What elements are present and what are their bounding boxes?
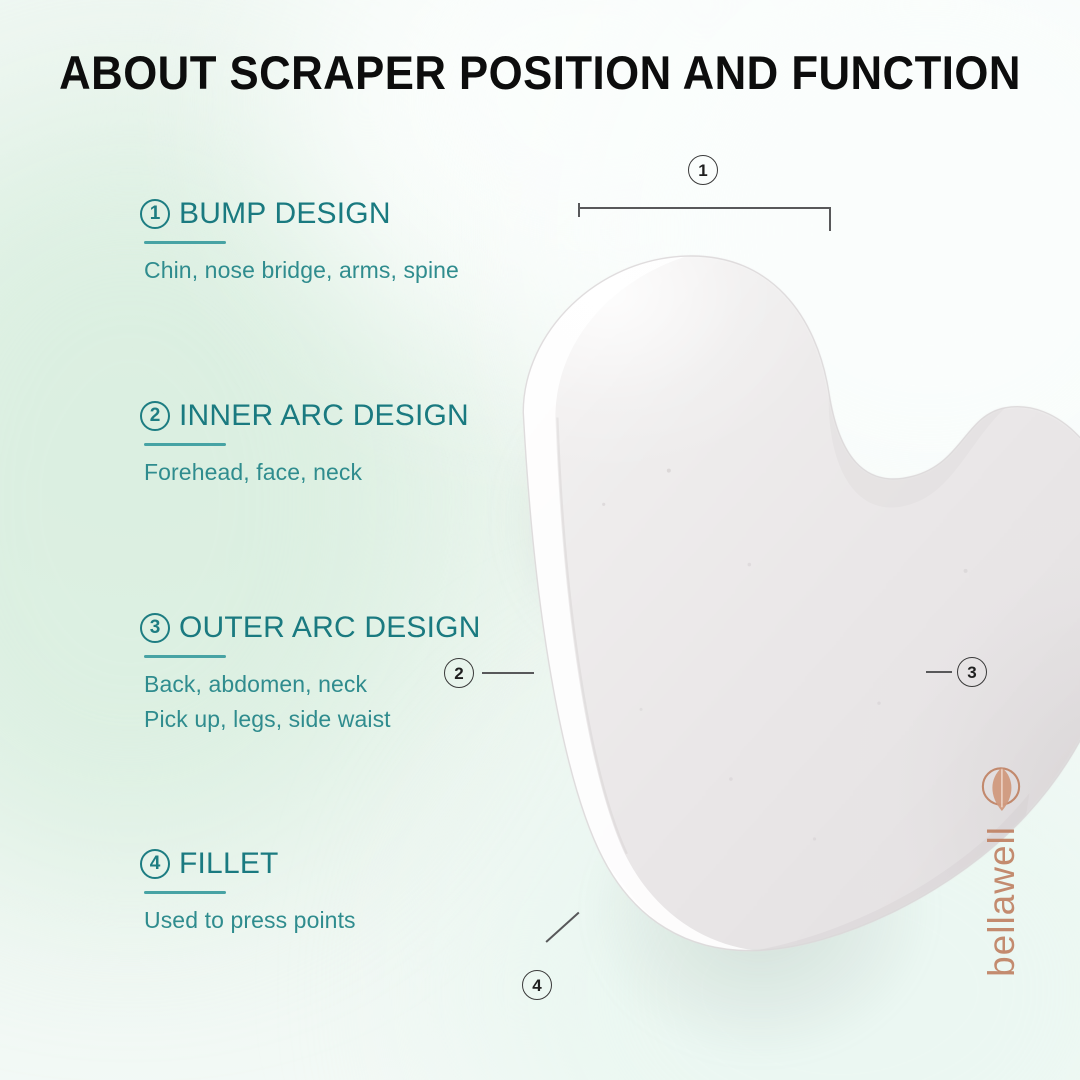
callout-marker-3: 3 (957, 657, 987, 687)
feature-2-divider (144, 443, 226, 446)
brand-name: bellawell (983, 826, 1020, 977)
feature-item-bump-design: 1 BUMP DESIGN Chin, nose bridge, arms, s… (140, 198, 459, 288)
feature-2-number: 2 (140, 401, 170, 431)
feature-list: 1 BUMP DESIGN Chin, nose bridge, arms, s… (0, 0, 520, 1080)
feature-item-inner-arc-design: 2 INNER ARC DESIGN Forehead, face, neck (140, 400, 469, 490)
feature-2-description: Forehead, face, neck (144, 455, 469, 491)
feature-4-number: 4 (140, 849, 170, 879)
infographic-canvas: ABOUT SCRAPER POSITION AND FUNCTION (0, 0, 1080, 1080)
feature-4-divider (144, 891, 226, 894)
feature-4-description: Used to press points (144, 903, 356, 939)
callout-3-number: 3 (957, 657, 987, 687)
feature-2-title: INNER ARC DESIGN (179, 400, 469, 432)
leaf-in-circle-icon (972, 762, 1030, 820)
feature-2-heading: 2 INNER ARC DESIGN (140, 400, 469, 432)
callout-marker-4: 4 (522, 970, 552, 1000)
callout-1-tick-left (578, 203, 580, 217)
feature-3-line-1: Back, abdomen, neck (144, 667, 481, 703)
feature-2-line-1: Forehead, face, neck (144, 455, 469, 491)
feature-item-outer-arc-design: 3 OUTER ARC DESIGN Back, abdomen, neck P… (140, 612, 481, 738)
callout-3-leader-line (926, 671, 952, 673)
feature-3-heading: 3 OUTER ARC DESIGN (140, 612, 481, 644)
callout-4-number: 4 (522, 970, 552, 1000)
feature-1-title: BUMP DESIGN (179, 198, 391, 230)
callout-1-number: 1 (688, 155, 718, 185)
feature-1-number: 1 (140, 199, 170, 229)
callout-1-dimension-bar (578, 207, 831, 209)
feature-3-number: 3 (140, 613, 170, 643)
feature-1-divider (144, 241, 226, 244)
feature-1-heading: 1 BUMP DESIGN (140, 198, 459, 230)
feature-4-line-1: Used to press points (144, 903, 356, 939)
callout-1-tick-right (829, 207, 831, 231)
brand-logo: bellawell (966, 762, 1036, 1032)
callout-marker-1: 1 (688, 155, 718, 185)
feature-3-title: OUTER ARC DESIGN (179, 612, 481, 644)
feature-1-description: Chin, nose bridge, arms, spine (144, 253, 459, 289)
feature-4-heading: 4 FILLET (140, 848, 356, 880)
feature-item-fillet: 4 FILLET Used to press points (140, 848, 356, 938)
feature-1-line-1: Chin, nose bridge, arms, spine (144, 253, 459, 289)
feature-3-description: Back, abdomen, neck Pick up, legs, side … (144, 667, 481, 738)
feature-3-line-2: Pick up, legs, side waist (144, 702, 481, 738)
feature-3-divider (144, 655, 226, 658)
feature-4-title: FILLET (179, 848, 279, 880)
